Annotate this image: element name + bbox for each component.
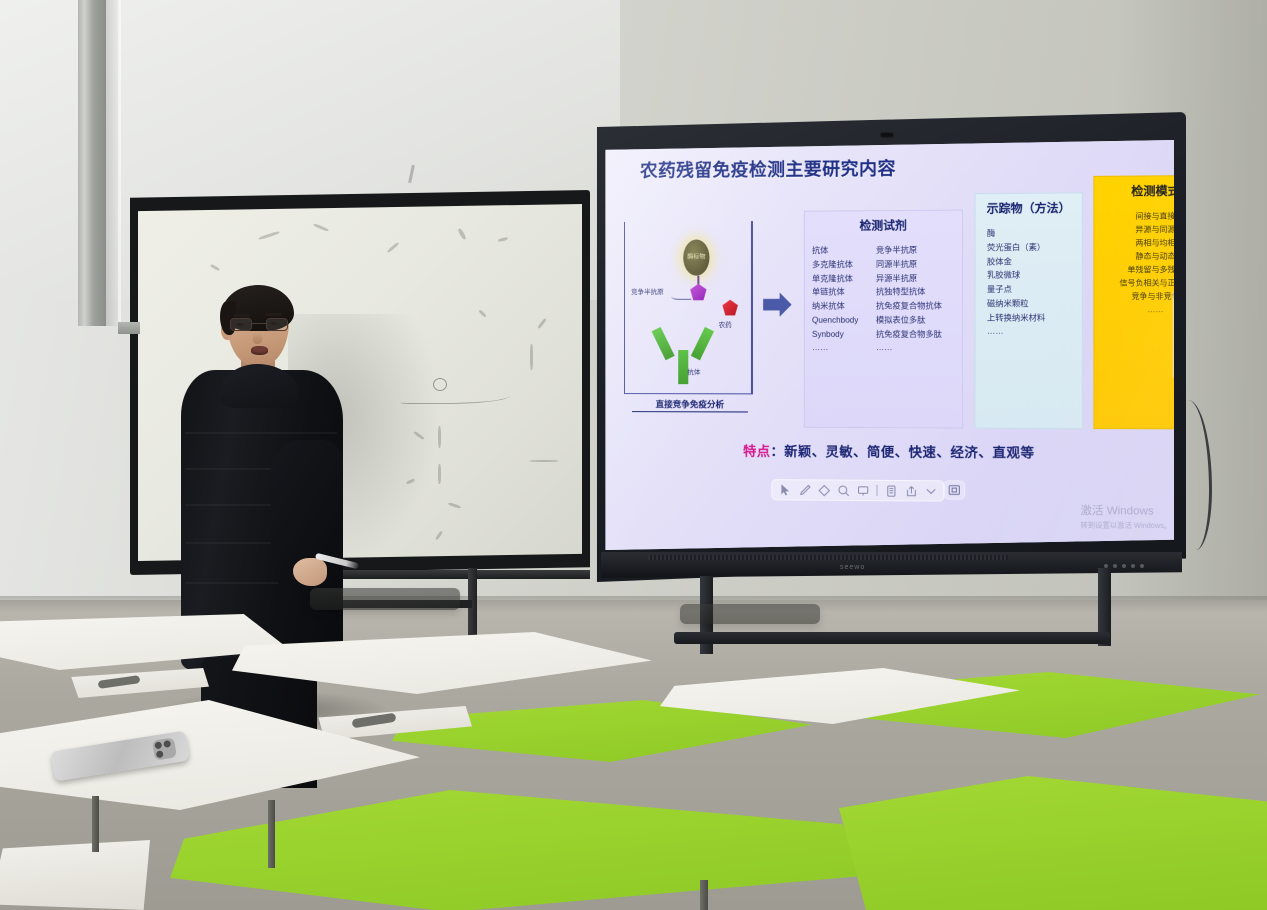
wall-pipe bbox=[78, 0, 106, 326]
desk bbox=[232, 632, 652, 694]
desk-leg bbox=[92, 796, 99, 852]
column-tracer-title: 示踪物（方法） bbox=[983, 200, 1075, 217]
desk bbox=[170, 790, 870, 910]
list-item: 单残留与多残留 bbox=[1102, 263, 1174, 277]
desk-leg bbox=[268, 800, 275, 868]
pesticide-label: 农药 bbox=[719, 319, 732, 329]
list-item: 竞争与非竞争 bbox=[1102, 290, 1174, 304]
list-item: 酶 bbox=[987, 226, 1075, 241]
classroom-scene: 农药残留免疫检测主要研究内容 酶标物 农药 竞争半抗原 bbox=[0, 0, 1267, 910]
chair-back bbox=[0, 840, 150, 910]
desk-surface bbox=[232, 632, 652, 694]
antibody-arm-right bbox=[691, 327, 714, 360]
column-reagent-title: 检测试剂 bbox=[812, 217, 955, 234]
display-speaker-grille bbox=[648, 555, 1008, 560]
column-mode: 检测模式 间接与直接 异源与同源 两相与均相 静态与动态 单残留与多残留 信号负… bbox=[1093, 175, 1174, 430]
assay-diagram: 酶标物 农药 竞争半抗原 抗体 bbox=[624, 221, 753, 394]
list-item: 抗独特型抗体 bbox=[876, 285, 955, 299]
display-brand-logo: seewo bbox=[840, 564, 865, 571]
list-item: 多克隆抗体 bbox=[812, 258, 870, 272]
pesticide-icon bbox=[722, 300, 739, 317]
diagram-caption: 直接竞争免疫分析 bbox=[632, 398, 748, 412]
pen-icon[interactable] bbox=[796, 482, 813, 497]
list-item: …… bbox=[876, 341, 955, 355]
column-mode-title: 检测模式 bbox=[1102, 182, 1174, 199]
background-chair bbox=[680, 604, 820, 624]
display-button[interactable] bbox=[1140, 564, 1144, 568]
features-text: 新颖、灵敏、简便、快速、经济、直观等 bbox=[784, 444, 1034, 461]
list-item: Quenchbody bbox=[812, 313, 870, 327]
list-item: 量子点 bbox=[987, 283, 1075, 297]
list-item: 上转换纳米材料 bbox=[987, 311, 1075, 325]
features-separator: ： bbox=[770, 444, 784, 459]
projection-icon[interactable] bbox=[943, 480, 965, 499]
hapten-icon bbox=[689, 284, 707, 302]
presenter-hand bbox=[293, 558, 327, 586]
desk bbox=[830, 776, 1267, 910]
list-item: …… bbox=[1102, 303, 1174, 317]
whiteboard-drawn-line bbox=[400, 390, 510, 404]
presenter-nose bbox=[253, 332, 262, 344]
display-icon[interactable] bbox=[854, 483, 871, 498]
presenter-toolbar[interactable] bbox=[771, 479, 944, 502]
list-item: 胶体金 bbox=[987, 254, 1075, 268]
display-button[interactable] bbox=[1113, 564, 1117, 568]
list-item: 信号负相关与正相关 bbox=[1102, 276, 1174, 290]
display-button[interactable] bbox=[1131, 564, 1135, 568]
hapten-leader-line bbox=[671, 292, 691, 300]
list-item: …… bbox=[987, 325, 1075, 339]
list-item: 间接与直接 bbox=[1102, 209, 1174, 223]
desk-surface-green bbox=[830, 776, 1267, 910]
slide-nav-strip[interactable]: ▲ ▮ ▼ bbox=[1172, 290, 1174, 379]
powerpoint-slide[interactable]: 农药残留免疫检测主要研究内容 酶标物 农药 竞争半抗原 bbox=[602, 140, 1174, 550]
desk bbox=[660, 668, 1020, 724]
desk-surface bbox=[660, 668, 1020, 724]
features-line: 特点：新颖、灵敏、简便、快速、经济、直观等 bbox=[654, 440, 1127, 462]
chevron-down-icon[interactable] bbox=[922, 483, 940, 498]
list-item: 抗免疫复合物多肽 bbox=[876, 327, 955, 341]
list-item: Synbody bbox=[812, 327, 870, 341]
column-reagent: 检测试剂 抗体 多克隆抗体 单克隆抗体 单链抗体 纳米抗体 Quenchbody… bbox=[804, 210, 963, 429]
enzyme-label-icon: 酶标物 bbox=[683, 239, 709, 275]
wall-pipe-shadow bbox=[106, 0, 120, 326]
list-item: 抗免疫复合物抗体 bbox=[876, 299, 955, 313]
column-tracer: 示踪物（方法） 酶 荧光蛋白（素） 胶体金 乳胶微球 量子点 磁纳米颗粒 上转换… bbox=[974, 192, 1082, 429]
antibody-arm-left bbox=[652, 327, 675, 360]
wall-bracket bbox=[118, 322, 140, 334]
highlighter-icon[interactable] bbox=[815, 482, 832, 497]
background-chair bbox=[310, 588, 460, 610]
features-label: 特点 bbox=[743, 444, 770, 459]
list-item: 静态与动态 bbox=[1102, 249, 1174, 263]
display-button[interactable] bbox=[1122, 564, 1126, 568]
slide-title: 农药残留免疫检测主要研究内容 bbox=[640, 155, 896, 182]
glasses-bridge bbox=[252, 323, 266, 324]
list-item: 抗体 bbox=[812, 244, 870, 258]
display-stand-base bbox=[674, 632, 1110, 644]
list-item: 同源半抗原 bbox=[876, 257, 955, 271]
list-item: 乳胶微球 bbox=[987, 268, 1075, 282]
enzyme-label-text: 酶标物 bbox=[683, 239, 709, 275]
right-arrow-icon bbox=[763, 291, 791, 317]
share-icon[interactable] bbox=[902, 483, 920, 498]
slide-list-icon[interactable] bbox=[883, 483, 900, 498]
list-item: 竞争半抗原 bbox=[876, 243, 955, 257]
desk-surface-green bbox=[170, 790, 870, 910]
list-item: 荧光蛋白（素） bbox=[987, 240, 1075, 254]
list-item: 两相与均相 bbox=[1102, 236, 1174, 250]
list-item: 模拟表位多肽 bbox=[876, 313, 955, 327]
list-item: 磁纳米颗粒 bbox=[987, 297, 1075, 311]
phone-camera-icon bbox=[152, 737, 177, 760]
windows-activation-watermark: 激活 Windows 转到设置以激活 Windows。 bbox=[1080, 502, 1171, 532]
antibody-label: 抗体 bbox=[687, 366, 700, 376]
display-camera-icon bbox=[880, 132, 894, 138]
display-screen[interactable]: 农药残留免疫检测主要研究内容 酶标物 农药 竞争半抗原 bbox=[602, 140, 1174, 550]
pointer-icon[interactable] bbox=[776, 482, 793, 497]
smart-display[interactable]: 农药残留免疫检测主要研究内容 酶标物 农药 竞争半抗原 bbox=[588, 112, 1186, 582]
watermark-line-1: 激活 Windows bbox=[1080, 502, 1171, 519]
list-item: 单链抗体 bbox=[812, 285, 870, 299]
presenter-mouth bbox=[251, 346, 268, 355]
list-item: …… bbox=[812, 341, 870, 355]
list-item: 纳米抗体 bbox=[812, 299, 870, 313]
glasses-lens-right bbox=[266, 318, 288, 331]
list-item: 异源与同源 bbox=[1102, 222, 1174, 236]
watermark-line-2: 转到设置以激活 Windows。 bbox=[1080, 520, 1171, 531]
hapten-label: 竞争半抗原 bbox=[631, 286, 664, 296]
list-item: 单克隆抗体 bbox=[812, 272, 870, 286]
magnifier-icon[interactable] bbox=[834, 483, 851, 498]
desk-leg bbox=[700, 880, 708, 910]
toolbar-separator bbox=[876, 485, 877, 496]
list-item: 异源半抗原 bbox=[876, 271, 955, 285]
